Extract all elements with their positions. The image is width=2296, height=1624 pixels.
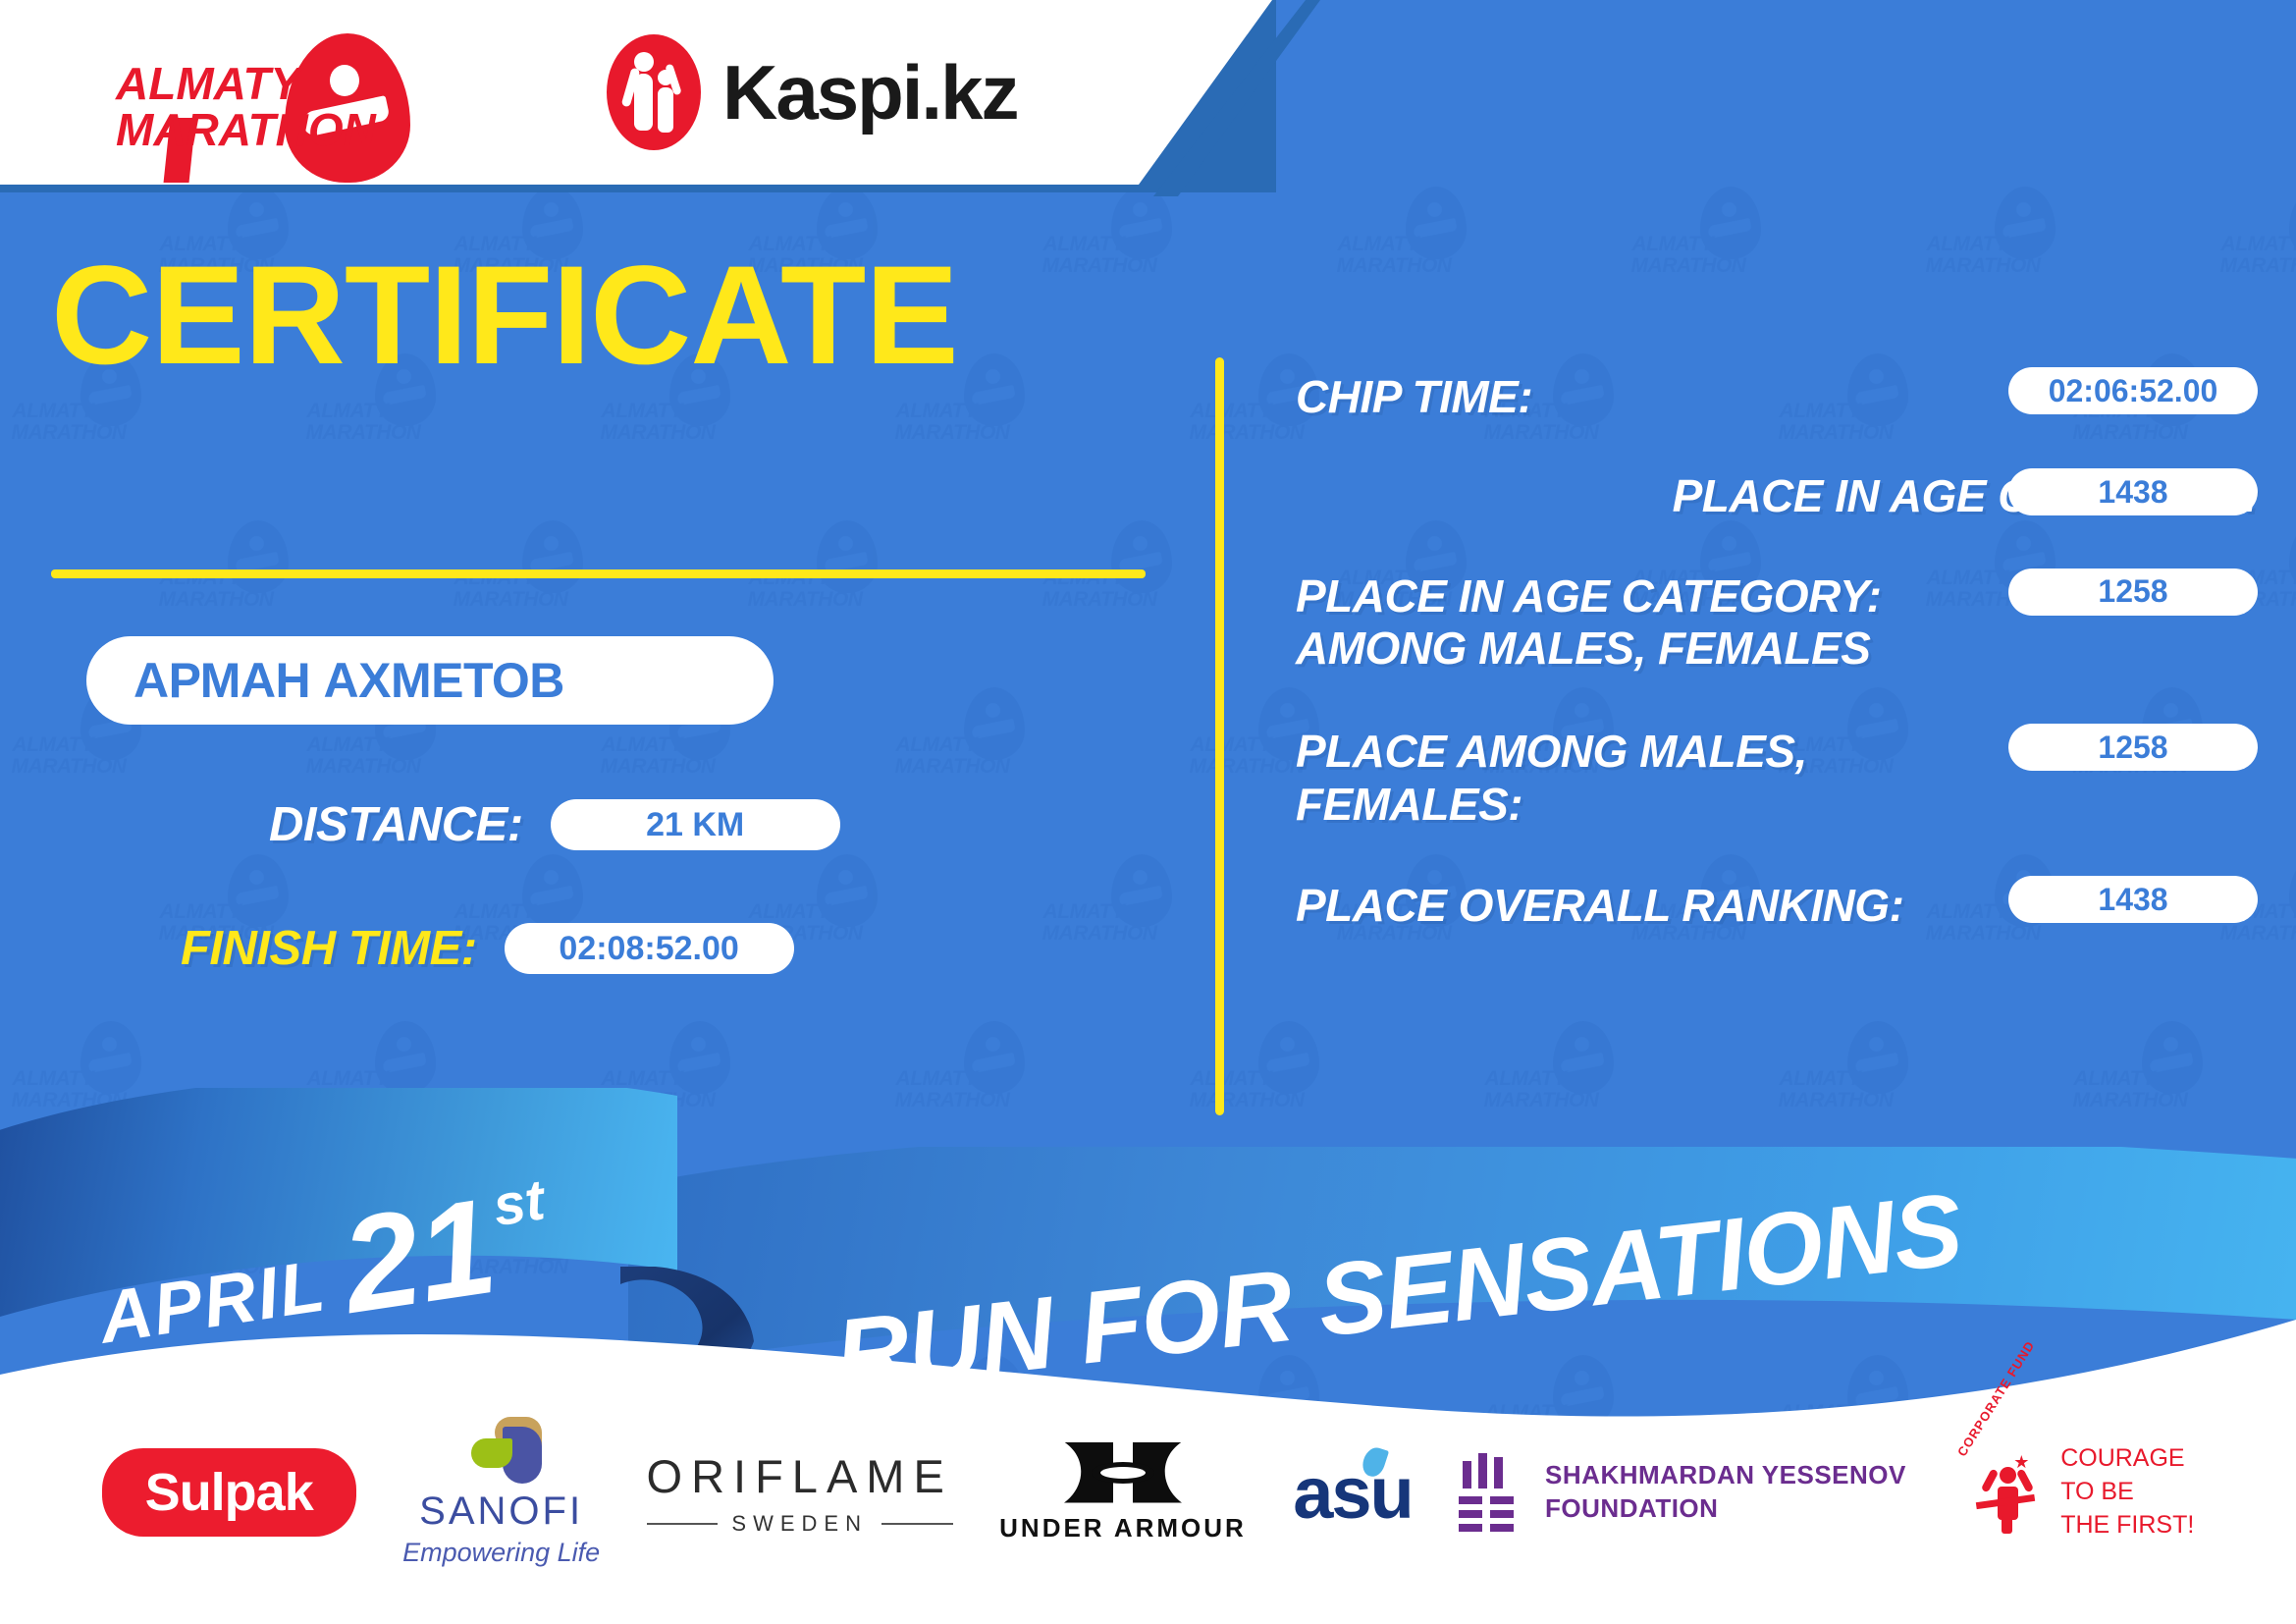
- watermark-line-2: MARATHON: [1188, 756, 1306, 777]
- finish-time-value-pill: 02:08:52.00: [505, 923, 794, 974]
- yessenov-subtitle: FOUNDATION: [1545, 1492, 1906, 1526]
- watermark-line-1: ALMATY: [893, 734, 980, 755]
- watermark-line-2: MARATHON: [1041, 255, 1158, 276]
- oriflame-subtitle: SWEDEN: [731, 1511, 868, 1537]
- watermark-drop-icon: [522, 520, 583, 593]
- watermark-line-2: MARATHON: [157, 589, 275, 610]
- event-day: 21: [337, 1191, 503, 1324]
- sanofi-petal-icon: [459, 1417, 544, 1486]
- almaty-marathon-wordmark: ALMATY MARATHON: [116, 61, 400, 153]
- watermark-line-2: MARATHON: [304, 422, 422, 443]
- courage-line-1: COURAGE: [2060, 1442, 2194, 1476]
- watermark-tile: ALMATYMARATHON: [157, 520, 304, 643]
- courage-line-2: TO BE: [2060, 1476, 2194, 1509]
- watermark-tile: ALMATYMARATHON: [1041, 520, 1188, 643]
- stat-row-place-among-gender: PLACE AMONG MALES, FEMALES: 1258: [1296, 726, 2258, 831]
- watermark-line-2: MARATHON: [1041, 923, 1158, 944]
- watermark-drop-icon: [1995, 187, 2056, 259]
- stat-label: PLACE AMONG MALES, FEMALES:: [1296, 726, 1924, 831]
- watermark-tile: ALMATYMARATHON: [1924, 187, 2071, 309]
- stat-row-chip-time: CHIP TIME: 02:06:52.00: [1296, 371, 2258, 423]
- vertical-divider: [1215, 357, 1224, 1115]
- stat-value: 1258: [2098, 573, 2167, 610]
- watermark-tile: ALMATYMARATHON: [746, 520, 893, 643]
- watermark-line-2: MARATHON: [1924, 255, 2042, 276]
- stat-row-place-overall: PLACE OVERALL RANKING: 1438: [1296, 880, 2258, 932]
- stat-label: PLACE IN AGE CATEGORY: AMONG MALES, FEMA…: [1296, 570, 1983, 676]
- watermark-line-2: MARATHON: [599, 422, 717, 443]
- stat-row-place-age-category-gender: PLACE IN AGE CATEGORY: AMONG MALES, FEMA…: [1296, 570, 2258, 676]
- kaspi-wordmark: Kaspi.kz: [722, 48, 1017, 137]
- watermark-drop-icon: [1111, 187, 1172, 259]
- watermark-tile: ALMATYMARATHON: [0, 520, 10, 643]
- watermark-drop-icon: [522, 854, 583, 927]
- stat-value-pill: 1258: [2008, 568, 2258, 616]
- title-underline: [51, 569, 1146, 578]
- stat-value-pill: 1438: [2008, 468, 2258, 515]
- watermark-line-2: MARATHON: [746, 589, 864, 610]
- watermark-drop-icon: [1406, 187, 1467, 259]
- watermark-tile: ALMATYMARATHON: [452, 520, 599, 643]
- watermark-line-2: MARATHON: [893, 756, 1011, 777]
- almaty-label: ALMATY: [116, 61, 400, 107]
- oriflame-subtitle-row: SWEDEN: [647, 1511, 953, 1537]
- event-day-ordinal: st: [489, 1166, 549, 1239]
- watermark-drop-icon: [964, 687, 1025, 760]
- asu-text: asu: [1293, 1452, 1413, 1534]
- sponsor-shakhmardan-yessenov-foundation: SHAKHMARDAN YESSENOV FOUNDATION: [1459, 1453, 1906, 1532]
- distance-value-pill: 21 KM: [551, 799, 840, 850]
- watermark-line-1: ALMATY: [1335, 234, 1421, 254]
- watermark-line-2: MARATHON: [1335, 255, 1453, 276]
- watermark-tile: ALMATYMARATHON: [1041, 187, 1188, 309]
- courage-star-icon: ★: [2013, 1453, 2029, 1471]
- watermark-line-2: MARATHON: [1629, 255, 1747, 276]
- sanofi-wordmark: SANOFI: [419, 1489, 583, 1534]
- watermark-tile: ALMATYMARATHON: [0, 187, 10, 309]
- watermark-line-2: MARATHON: [10, 422, 128, 443]
- finish-time-row: FINISH TIME: 02:08:52.00: [181, 921, 794, 976]
- kaspi-people-icon: [607, 34, 701, 150]
- watermark-drop-icon: [2289, 520, 2296, 593]
- under-armour-wordmark: UNDER ARMOUR: [999, 1513, 1247, 1543]
- oriflame-rule-left: [647, 1523, 719, 1525]
- courage-figure-icon: CORPORATE FUND ★: [1952, 1445, 2047, 1540]
- yessenov-name: SHAKHMARDAN YESSENOV: [1545, 1459, 1906, 1492]
- watermark-drop-icon: [228, 520, 289, 593]
- oriflame-rule-right: [881, 1523, 953, 1525]
- watermark-line-1: ALMATY: [452, 901, 538, 922]
- watermark-line-2: MARATHON: [1188, 422, 1306, 443]
- runner-name-value: АРМАН АХМЕТОВ: [133, 652, 564, 709]
- watermark-line-1: ALMATY: [304, 401, 391, 421]
- watermark-line-2: MARATHON: [10, 756, 128, 777]
- stat-value: 1258: [2098, 730, 2167, 766]
- watermark-line-2: MARATHON: [304, 756, 422, 777]
- courage-slogan: COURAGE TO BE THE FIRST!: [2060, 1442, 2194, 1542]
- sponsor-under-armour: UNDER ARMOUR: [999, 1442, 1247, 1543]
- watermark-tile: ALMATYMARATHON: [2218, 187, 2296, 309]
- watermark-line-1: ALMATY: [1188, 734, 1274, 755]
- sponsor-corporate-fund-courage: CORPORATE FUND ★ COURAGE TO BE THE FIRST…: [1952, 1442, 2194, 1542]
- watermark-line-1: ALMATY: [1188, 401, 1274, 421]
- watermark-drop-icon: [817, 854, 878, 927]
- watermark-line-1: ALMATY: [1924, 234, 2010, 254]
- watermark-line-2: MARATHON: [1041, 589, 1158, 610]
- stat-value: 1438: [2098, 474, 2167, 511]
- watermark-line-1: ALMATY: [10, 734, 96, 755]
- watermark-tile: ALMATYMARATHON: [1629, 187, 1777, 309]
- watermark-tile: ALMATYMARATHON: [1041, 854, 1188, 977]
- stat-value-pill: 1258: [2008, 724, 2258, 771]
- finish-time-value: 02:08:52.00: [559, 930, 738, 968]
- watermark-line-1: ALMATY: [2218, 234, 2296, 254]
- watermark-line-1: ALMATY: [157, 901, 243, 922]
- stat-value-pill: 02:06:52.00: [2008, 367, 2258, 414]
- watermark-line-1: ALMATY: [599, 401, 685, 421]
- watermark-line-1: ALMATY: [746, 901, 832, 922]
- watermark-tile: ALMATYMARATHON: [1335, 187, 1482, 309]
- watermark-drop-icon: [2289, 187, 2296, 259]
- runner-name-field: АРМАН АХМЕТОВ: [86, 636, 774, 725]
- asu-wordmark: asu: [1293, 1451, 1413, 1535]
- sulpak-wordmark: Sulpak: [102, 1448, 356, 1537]
- watermark-line-1: ALMATY: [1041, 234, 1127, 254]
- watermark-line-2: MARATHON: [452, 589, 569, 610]
- distance-value: 21 KM: [646, 806, 744, 844]
- watermark-line-1: ALMATY: [10, 401, 96, 421]
- stat-row-place-age-category: PLACE IN AGE CATEGORY: 1438: [1296, 470, 2258, 522]
- watermark-drop-icon: [228, 854, 289, 927]
- header-content: ALMATY MARATHON Kaspi.kz: [0, 0, 1272, 185]
- watermark-drop-icon: [817, 520, 878, 593]
- courage-line-3: THE FIRST!: [2060, 1509, 2194, 1543]
- sponsor-oriflame: ORIFLAME SWEDEN: [647, 1449, 953, 1537]
- almaty-marathon-logo: ALMATY MARATHON: [116, 24, 440, 161]
- watermark-tile: ALMATYMARATHON: [893, 687, 1041, 810]
- page-title: CERTIFICATE: [51, 245, 958, 386]
- watermark-drop-icon: [1111, 520, 1172, 593]
- sanofi-tagline: Empowering Life: [402, 1538, 600, 1568]
- kaspi-logo: Kaspi.kz: [607, 34, 1017, 150]
- watermark-line-1: ALMATY: [1041, 901, 1127, 922]
- certificate-canvas: ALMATYMARATHONALMATYMARATHONALMATYMARATH…: [0, 0, 2296, 1624]
- sponsor-asu: asu: [1293, 1451, 1413, 1535]
- sponsor-strip: Sulpak SANOFI Empowering Life ORIFLAME S…: [0, 1424, 2296, 1561]
- stat-label: CHIP TIME:: [1296, 371, 2042, 423]
- stat-value: 1438: [2098, 882, 2167, 918]
- oriflame-wordmark: ORIFLAME: [647, 1449, 953, 1503]
- stats-panel: CHIP TIME: 02:06:52.00 PLACE IN AGE CATE…: [1296, 371, 2258, 933]
- watermark-drop-icon: [1700, 187, 1761, 259]
- finish-time-label: FINISH TIME:: [181, 921, 477, 976]
- watermark-drop-icon: [2289, 854, 2296, 927]
- distance-row: DISTANCE: 21 KM: [269, 797, 840, 852]
- yessenov-wordmark: SHAKHMARDAN YESSENOV FOUNDATION: [1545, 1459, 1906, 1526]
- watermark-tile: ALMATYMARATHON: [0, 854, 10, 977]
- distance-label: DISTANCE:: [269, 797, 523, 852]
- watermark-line-1: ALMATY: [304, 734, 391, 755]
- stat-value-pill: 1438: [2008, 876, 2258, 923]
- stat-label: PLACE OVERALL RANKING:: [1296, 880, 2042, 932]
- sponsor-sanofi: SANOFI Empowering Life: [402, 1417, 600, 1568]
- watermark-drop-icon: [964, 353, 1025, 426]
- watermark-line-2: MARATHON: [599, 756, 717, 777]
- watermark-line-1: ALMATY: [1629, 234, 1716, 254]
- watermark-drop-icon: [1111, 854, 1172, 927]
- watermark-line-2: MARATHON: [2218, 255, 2296, 276]
- watermark-line-2: MARATHON: [893, 422, 1011, 443]
- sponsor-sulpak: Sulpak: [102, 1448, 356, 1537]
- marathon-label: MARATHON: [116, 107, 400, 153]
- watermark-line-1: ALMATY: [893, 401, 980, 421]
- stat-value: 02:06:52.00: [2049, 373, 2218, 409]
- yessenov-foundation-icon: [1459, 1453, 1522, 1532]
- under-armour-logo-icon: [1064, 1442, 1182, 1503]
- watermark-line-1: ALMATY: [599, 734, 685, 755]
